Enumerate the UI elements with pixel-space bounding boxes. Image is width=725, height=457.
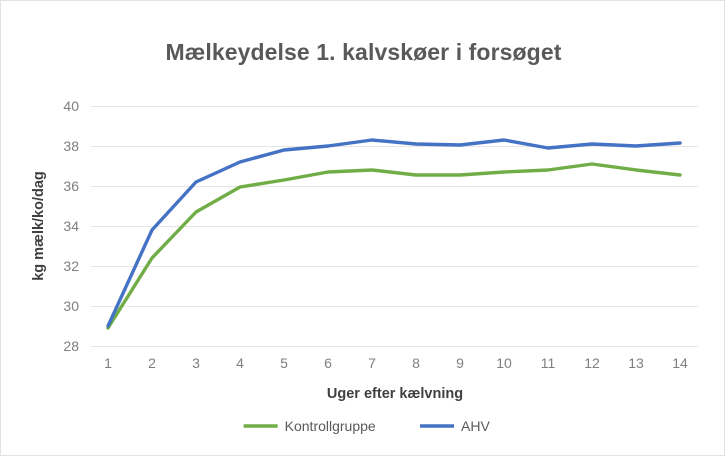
series-line-ahv — [108, 140, 680, 326]
y-axis-tick-labels: 28303234363840 — [63, 98, 79, 354]
x-tick-label: 6 — [324, 355, 332, 371]
x-tick-label: 13 — [628, 355, 644, 371]
legend-label: AHV — [461, 418, 490, 434]
legend-item[interactable]: AHV — [420, 418, 490, 434]
series-line-kontrollgruppe — [108, 164, 680, 328]
chart-card: Mælkeydelse 1. kalvskøer i forsøget 2830… — [0, 0, 725, 456]
x-tick-label: 4 — [236, 355, 244, 371]
x-tick-label: 8 — [412, 355, 420, 371]
x-axis-tick-labels: 1234567891011121314 — [104, 355, 688, 371]
y-tick-label: 36 — [63, 178, 79, 194]
y-tick-label: 30 — [63, 298, 79, 314]
legend-label: Kontrollgruppe — [285, 418, 376, 434]
x-axis-title: Uger efter kælvning — [327, 386, 463, 402]
chart-legend: KontrollgruppeAHV — [244, 418, 491, 434]
y-tick-label: 34 — [63, 218, 79, 234]
y-axis-title: kg mælk/ko/dag — [31, 171, 47, 281]
x-tick-label: 7 — [368, 355, 376, 371]
y-tick-label: 28 — [63, 338, 79, 354]
x-tick-label: 12 — [584, 355, 600, 371]
series-group — [108, 140, 680, 328]
legend-item[interactable]: Kontrollgruppe — [244, 418, 376, 434]
x-tick-label: 2 — [148, 355, 156, 371]
x-tick-label: 3 — [192, 355, 200, 371]
x-tick-label: 14 — [672, 355, 688, 371]
x-tick-label: 5 — [280, 355, 288, 371]
y-tick-label: 38 — [63, 138, 79, 154]
y-tick-label: 32 — [63, 258, 79, 274]
x-tick-label: 11 — [541, 355, 556, 371]
y-tick-label: 40 — [63, 98, 79, 114]
x-tick-label: 9 — [456, 355, 464, 371]
line-chart-plot: 28303234363840 1234567891011121314 kg mæ… — [1, 1, 725, 457]
x-tick-label: 1 — [104, 355, 112, 371]
x-tick-label: 10 — [496, 355, 512, 371]
